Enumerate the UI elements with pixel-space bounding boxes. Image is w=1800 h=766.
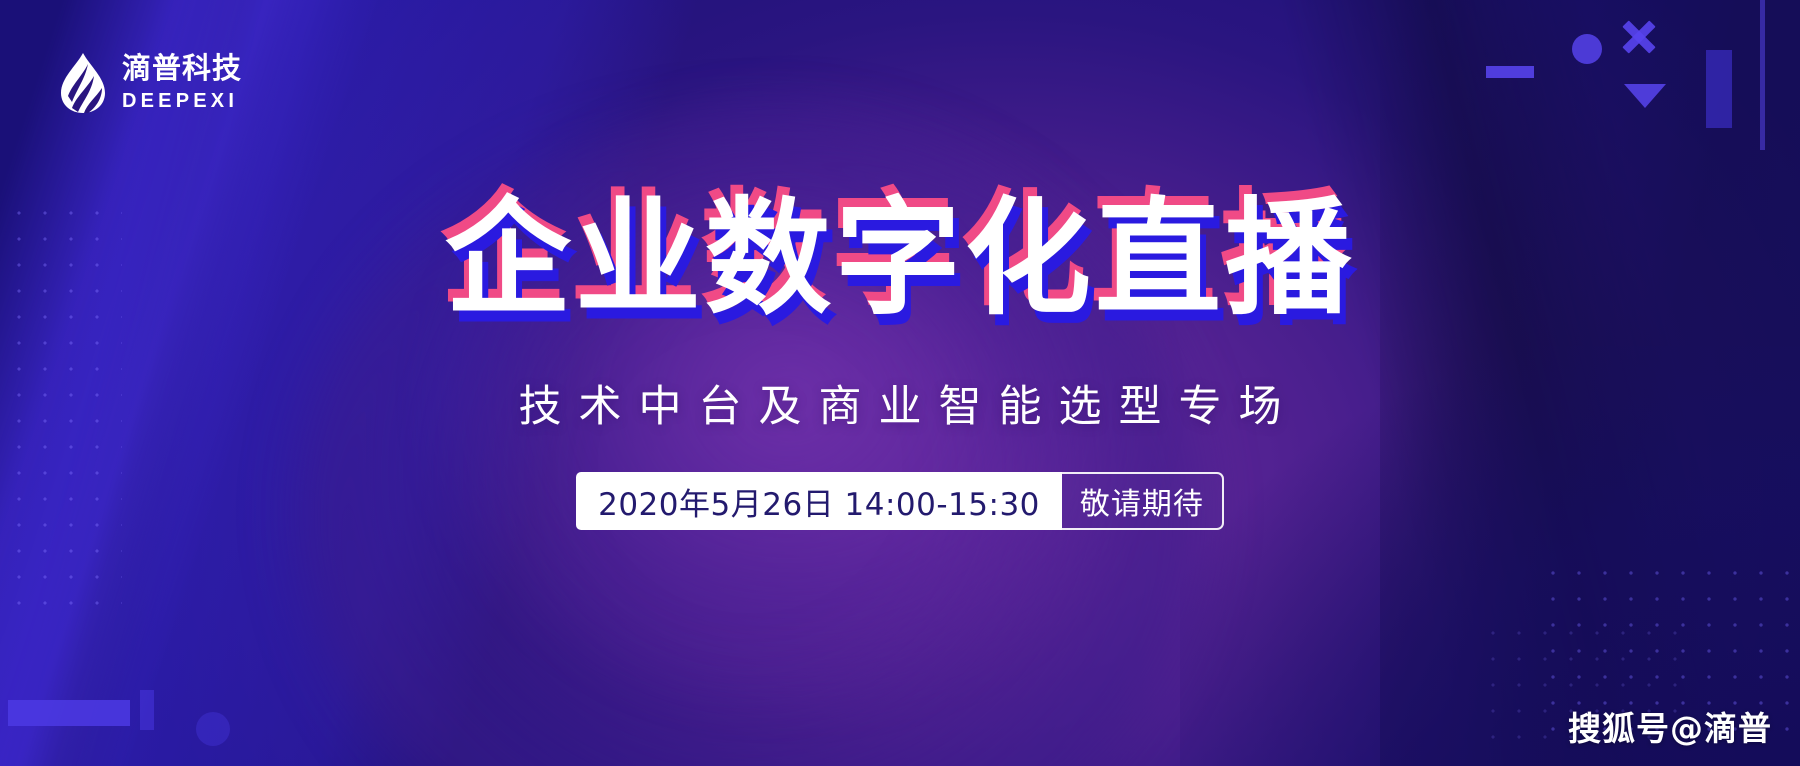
badge-date-time: 2020年5月26日 14:00-15:30 xyxy=(576,472,1062,530)
watermark: 搜狐号@滴普 xyxy=(1568,702,1772,750)
page-title: 企业数字化直播 企业数字化直播 企业数字化直播 xyxy=(0,188,1800,329)
x-shape-icon xyxy=(1620,18,1658,56)
badge-cta-button[interactable]: 敬请期待 xyxy=(1062,472,1224,530)
subtitle: 技术中台及商业智能选型专场 xyxy=(0,372,1800,434)
logo-name-en: DEEPEXI xyxy=(122,91,242,111)
main-title-white-layer: 企业数字化直播 xyxy=(445,185,1355,332)
badge-group: 2020年5月26日 14:00-15:30 敬请期待 xyxy=(576,472,1224,530)
circle-shape-icon-bottom-left xyxy=(196,712,230,746)
circle-shape-icon xyxy=(1572,34,1602,64)
main-title: 企业数字化直播 企业数字化直播 企业数字化直播 xyxy=(445,188,1355,329)
vertical-bar-shape-icon xyxy=(1706,50,1732,128)
event-badge: 2020年5月26日 14:00-15:30 敬请期待 xyxy=(0,472,1800,530)
vertical-bar-shape-icon-bottom-left xyxy=(140,690,154,730)
promo-banner: 滴普科技 DEEPEXI 企业数字化直播 企业数字化直播 企业数字化直播 技术中… xyxy=(0,0,1800,766)
triangle-shape-icon xyxy=(1624,84,1666,108)
bar-shape-icon xyxy=(1486,66,1534,78)
brand-logo: 滴普科技 DEEPEXI xyxy=(58,52,242,114)
droplet-flame-icon xyxy=(58,52,108,114)
vertical-line-shape-icon xyxy=(1760,0,1765,150)
bar-shape-icon-bottom-left xyxy=(8,700,130,726)
logo-name-cn: 滴普科技 xyxy=(122,55,242,84)
